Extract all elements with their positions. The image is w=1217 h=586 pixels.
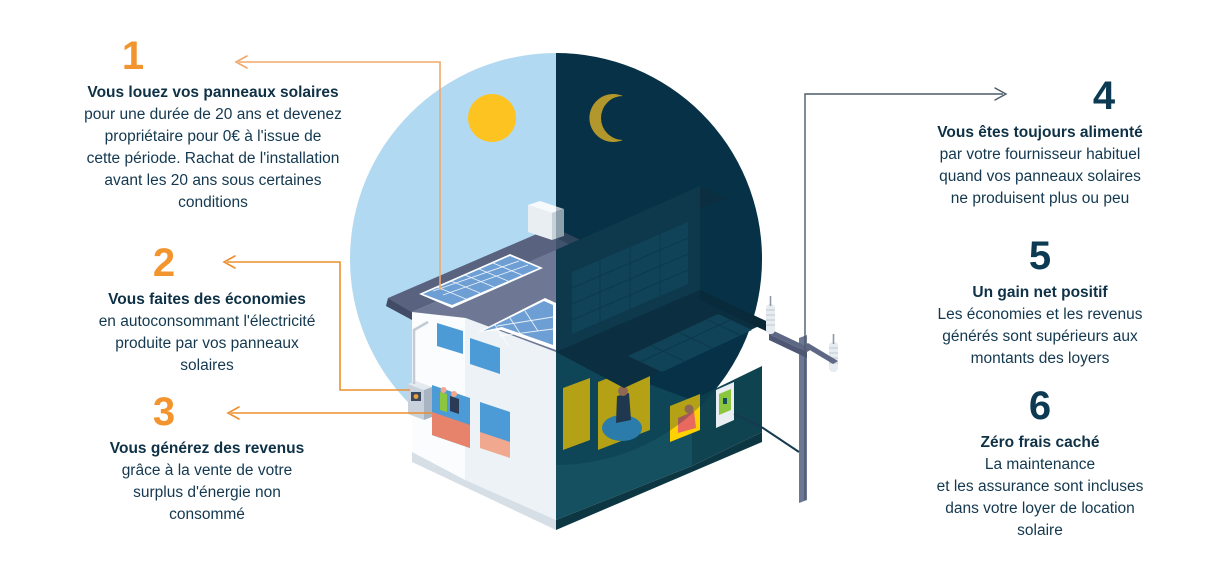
step-2-line-2: produite par vos panneaux	[62, 333, 352, 355]
step-5-line-3: montants des loyers	[890, 348, 1190, 370]
step-6: 6 Zéro frais caché La maintenance et les…	[890, 386, 1190, 542]
step-5-heading: Un gain net positif	[890, 282, 1190, 304]
step-1-heading: Vous louez vos panneaux solaires	[28, 82, 398, 104]
step-6-number: 6	[890, 386, 1190, 426]
step-5-body: Un gain net positif Les économies et les…	[890, 282, 1190, 370]
step-6-heading: Zéro frais caché	[890, 432, 1190, 454]
step-1: 1 Vous louez vos panneaux solaires pour …	[28, 36, 398, 214]
step-5-line-2: générés sont supérieurs aux	[890, 326, 1190, 348]
step-6-line-4: solaire	[890, 520, 1190, 542]
step-3: 3 Vous générez des revenus grâce à la ve…	[62, 392, 352, 526]
step-3-body: Vous générez des revenus grâce à la vent…	[62, 438, 352, 526]
step-6-line-3: dans votre loyer de location	[890, 498, 1190, 520]
step-5-number: 5	[890, 236, 1190, 276]
insulator-left	[766, 296, 775, 334]
step-3-number: 3	[0, 392, 352, 432]
step-4-line-1: par votre fournisseur habituel	[890, 144, 1190, 166]
step-2-heading: Vous faites des économies	[62, 289, 352, 311]
step-1-line-2: propriétaire pour 0€ à l'issue de	[28, 126, 398, 148]
sun-icon	[468, 94, 516, 142]
infographic-canvas: 1 Vous louez vos panneaux solaires pour …	[0, 0, 1217, 586]
step-1-number: 1	[0, 36, 398, 76]
step-2: 2 Vous faites des économies en autoconso…	[62, 243, 352, 377]
step-3-line-1: grâce à la vente de votre	[62, 460, 352, 482]
inverter-box-icon	[716, 382, 734, 428]
step-1-line-4: avant les 20 ans sous certaines	[28, 170, 398, 192]
electric-meter-box-icon	[408, 381, 432, 420]
step-2-line-3: solaires	[62, 355, 352, 377]
step-2-line-1: en autoconsommant l'électricité	[62, 311, 352, 333]
step-3-line-3: consommé	[62, 504, 352, 526]
step-6-body: Zéro frais caché La maintenance et les a…	[890, 432, 1190, 542]
step-4-line-3: ne produisent plus ou peu	[890, 188, 1190, 210]
step-6-line-1: La maintenance	[890, 454, 1190, 476]
step-6-line-2: et les assurance sont incluses	[890, 476, 1190, 498]
step-4-line-2: quand vos panneaux solaires	[890, 166, 1190, 188]
step-1-body: Vous louez vos panneaux solaires pour un…	[28, 82, 398, 214]
step-2-body: Vous faites des économies en autoconsomm…	[62, 289, 352, 377]
step-5: 5 Un gain net positif Les économies et l…	[890, 236, 1190, 370]
step-1-line-1: pour une durée de 20 ans et devenez	[28, 104, 398, 126]
step-3-heading: Vous générez des revenus	[62, 438, 352, 460]
step-1-line-3: cette période. Rachat de l'installation	[28, 148, 398, 170]
insulator-right	[829, 334, 838, 372]
step-1-line-5: conditions	[28, 192, 398, 214]
step-4: 4 Vous êtes toujours alimenté par votre …	[890, 76, 1190, 210]
step-4-body: Vous êtes toujours alimenté par votre fo…	[890, 122, 1190, 210]
step-4-number: 4	[1018, 76, 1190, 116]
step-5-line-1: Les économies et les revenus	[890, 304, 1190, 326]
step-3-line-2: surplus d'énergie non	[62, 482, 352, 504]
step-2-number: 2	[0, 243, 352, 283]
step-4-heading: Vous êtes toujours alimenté	[890, 122, 1190, 144]
